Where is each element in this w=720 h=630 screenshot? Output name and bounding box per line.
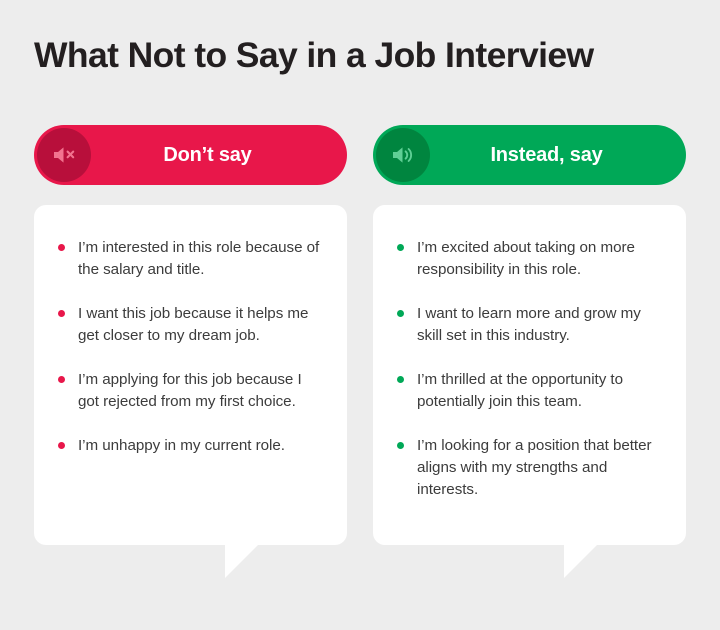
- list-item-text: I’m interested in this role because of t…: [78, 239, 319, 278]
- list-item-text: I’m unhappy in my current role.: [78, 437, 285, 454]
- card-dont-say: I’m interested in this role because of t…: [34, 205, 347, 545]
- list-item: I want this job because it helps me get …: [56, 303, 325, 347]
- bullet-dot-icon: [397, 310, 404, 317]
- speech-bubble-tail: [225, 544, 259, 578]
- bullet-dot-icon: [397, 244, 404, 251]
- card-instead-say: I’m excited about taking on more respons…: [373, 205, 686, 545]
- list-item-text: I’m thrilled at the opportunity to poten…: [417, 371, 623, 410]
- list-item-text: I want to learn more and grow my skill s…: [417, 305, 641, 344]
- bullet-dot-icon: [58, 376, 65, 383]
- speaker-mute-icon: [37, 128, 91, 182]
- list-item: I’m excited about taking on more respons…: [395, 237, 664, 281]
- column-instead-say: Instead, say I’m excited about taking on…: [373, 0, 686, 630]
- bullet-list-instead-say: I’m excited about taking on more respons…: [395, 237, 664, 501]
- list-item-text: I’m looking for a position that better a…: [417, 437, 651, 498]
- speech-bubble-tail: [564, 544, 598, 578]
- infographic-root: What Not to Say in a Job Interview Don’t…: [0, 0, 720, 630]
- header-pill-instead-say: Instead, say: [373, 125, 686, 185]
- bullet-dot-icon: [397, 376, 404, 383]
- bullet-dot-icon: [397, 442, 404, 449]
- list-item: I’m thrilled at the opportunity to poten…: [395, 369, 664, 413]
- column-dont-say: Don’t say I’m interested in this role be…: [34, 0, 347, 630]
- speaker-on-icon: [376, 128, 430, 182]
- bullet-list-dont-say: I’m interested in this role because of t…: [56, 237, 325, 457]
- list-item: I’m interested in this role because of t…: [56, 237, 325, 281]
- header-pill-dont-say: Don’t say: [34, 125, 347, 185]
- list-item-text: I’m applying for this job because I got …: [78, 371, 302, 410]
- bullet-dot-icon: [58, 442, 65, 449]
- list-item: I’m unhappy in my current role.: [56, 435, 325, 457]
- list-item: I want to learn more and grow my skill s…: [395, 303, 664, 347]
- bullet-dot-icon: [58, 244, 65, 251]
- list-item: I’m applying for this job because I got …: [56, 369, 325, 413]
- list-item-text: I want this job because it helps me get …: [78, 305, 308, 344]
- list-item-text: I’m excited about taking on more respons…: [417, 239, 635, 278]
- bullet-dot-icon: [58, 310, 65, 317]
- list-item: I’m looking for a position that better a…: [395, 435, 664, 501]
